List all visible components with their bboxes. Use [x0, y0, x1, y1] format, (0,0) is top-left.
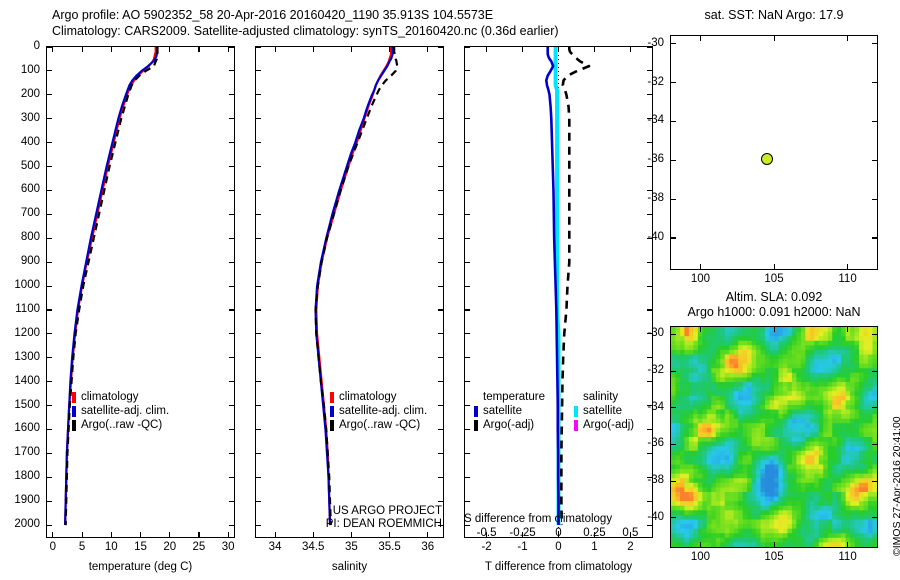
temperature-xtick [52, 532, 53, 537]
salinity-xtick-label: 35.5 [378, 541, 400, 553]
depth-tick-label: 1300 [14, 351, 40, 363]
depth-tick-label: 400 [21, 136, 40, 148]
argo-profile-figure: Argo profile: AO 5902352_58 20-Apr-2016 … [0, 0, 900, 580]
depth-tick [229, 190, 234, 191]
depth-tick [438, 357, 443, 358]
sdiff-xtick-label: 0.25 [583, 527, 605, 539]
depth-tick [47, 477, 52, 478]
map-ytick [671, 517, 676, 518]
depth-tick-label: 500 [21, 160, 40, 172]
map-ytick [671, 334, 676, 335]
sla-title-line1: Altim. SLA: 0.092 [668, 290, 880, 304]
map-ytick-label: -34 [647, 114, 664, 126]
tdiff-xtick-label: -1 [517, 541, 527, 553]
temperature-xtick [198, 532, 199, 537]
depth-tick [438, 214, 443, 215]
depth-tick-label: 1600 [14, 422, 40, 434]
depth-tick [47, 357, 52, 358]
depth-tick [47, 286, 52, 287]
map-xtick-label: 100 [691, 551, 710, 563]
depth-tick [229, 47, 234, 48]
map-xtick [700, 36, 701, 41]
argo-float-marker [761, 153, 773, 165]
depth-tick [256, 333, 261, 334]
map-xtick [847, 36, 848, 41]
legend-item: satellite [474, 404, 545, 418]
depth-tick [438, 142, 443, 143]
temperature-plot-area [46, 46, 235, 538]
argo-project-credit: US ARGO PROJECT PI: DEAN ROEMMICH [264, 505, 442, 531]
temperature-xtick [169, 532, 170, 537]
sdiff-xtick [486, 47, 487, 52]
temperature-legend: climatology satellite-adj. clim. Argo(..… [72, 390, 169, 432]
map-ytick [872, 444, 877, 445]
depth-tick [438, 238, 443, 239]
salinity-xtick [389, 47, 390, 52]
depth-tick [47, 381, 52, 382]
map-ytick [671, 160, 676, 161]
legend-label: satellite-adj. clim. [81, 404, 169, 418]
map-xtick [774, 36, 775, 41]
header-line1: Argo profile: AO 5902352_58 20-Apr-2016 … [52, 8, 493, 22]
depth-tick [465, 429, 470, 430]
depth-tick [465, 453, 470, 454]
temperature-xtick [169, 47, 170, 52]
tdiff-xtick-label: 2 [627, 541, 633, 553]
map-ytick-label: -30 [647, 327, 664, 339]
map-xtick-label: 110 [838, 551, 856, 563]
depth-tick [465, 70, 470, 71]
sdiff-xtick-label: -0.25 [509, 527, 535, 539]
depth-tick [465, 405, 470, 406]
map-ytick [671, 237, 676, 238]
depth-tick [438, 70, 443, 71]
depth-tick [47, 238, 52, 239]
difference-legend-salinity: salinity satellite Argo(-adj) [574, 390, 634, 432]
sdiff-xtick [522, 47, 523, 52]
depth-tick [229, 70, 234, 71]
depth-tick [465, 357, 470, 358]
legend-label: Argo(..raw -QC) [339, 418, 420, 432]
map-xtick [774, 327, 775, 332]
map-ytick [671, 444, 676, 445]
depth-tick [438, 381, 443, 382]
depth-tick [465, 477, 470, 478]
salinity-xtick [275, 47, 276, 52]
depth-tick [47, 214, 52, 215]
salinity-xtick [389, 532, 390, 537]
depth-tick [229, 453, 234, 454]
depth-tick [438, 405, 443, 406]
depth-tick [256, 501, 261, 502]
salinity-xtick [313, 47, 314, 52]
legend-item: satellite [574, 404, 634, 418]
map-xtick [847, 542, 848, 547]
map-ytick [872, 199, 877, 200]
temperature-xtick-label: 30 [222, 541, 235, 553]
depth-tick-label: 700 [21, 207, 40, 219]
credit-line2: PI: DEAN ROEMMICH [264, 518, 442, 531]
temperature-xtick-label: 0 [50, 541, 56, 553]
depth-tick-label: 1400 [14, 375, 40, 387]
depth-tick [256, 405, 261, 406]
legend-item: satellite-adj. clim. [72, 404, 169, 418]
temperature-xtick [140, 532, 141, 537]
legend-item: Argo(..raw -QC) [72, 418, 169, 432]
depth-tick [438, 525, 443, 526]
depth-tick [256, 214, 261, 215]
depth-tick [465, 94, 470, 95]
header-line2: Climatology: CARS2009. Satellite-adjuste… [52, 24, 559, 38]
depth-tick [229, 214, 234, 215]
depth-tick-label: 1900 [14, 494, 40, 506]
depth-tick [256, 118, 261, 119]
depth-tick [438, 333, 443, 334]
tdiff-xtick-label: -2 [481, 541, 491, 553]
depth-tick [647, 286, 652, 287]
map-ytick [872, 121, 877, 122]
depth-tick [465, 214, 470, 215]
depth-tick [647, 70, 652, 71]
legend-label: climatology [339, 390, 397, 404]
depth-tick [256, 94, 261, 95]
depth-tick [229, 381, 234, 382]
legend-header-temperature: temperature [474, 390, 545, 404]
depth-tick [647, 262, 652, 263]
depth-tick [229, 477, 234, 478]
depth-tick [647, 501, 652, 502]
depth-tick [256, 309, 261, 310]
depth-tick [47, 262, 52, 263]
depth-tick [229, 142, 234, 143]
legend-item: climatology [330, 390, 427, 404]
map-ytick-label: -30 [647, 37, 664, 49]
legend-item: climatology [72, 390, 169, 404]
credit-line1: US ARGO PROJECT [264, 505, 442, 518]
salinity-xtick-label: 34.5 [302, 541, 324, 553]
legend-swatch-climatology [330, 392, 334, 403]
depth-tick [465, 166, 470, 167]
map-xtick [774, 264, 775, 269]
legend-label: Argo(-adj) [483, 418, 534, 432]
depth-tick [647, 142, 652, 143]
depth-tick [647, 357, 652, 358]
depth-tick [647, 525, 652, 526]
depth-tick [229, 262, 234, 263]
legend-item: satellite-adj. clim. [330, 404, 427, 418]
legend-label: Argo(-adj) [583, 418, 634, 432]
depth-tick [229, 238, 234, 239]
depth-tick [647, 453, 652, 454]
depth-tick [47, 429, 52, 430]
depth-tick [465, 525, 470, 526]
depth-tick-label: 1200 [14, 327, 40, 339]
salinity-xtick [275, 532, 276, 537]
temperature-xtick-label: 20 [163, 541, 176, 553]
map-ytick-label: -32 [647, 364, 664, 376]
legend-label: satellite [483, 404, 522, 418]
depth-tick [256, 381, 261, 382]
map-ytick-label: -38 [647, 192, 664, 204]
depth-tick [647, 309, 652, 310]
map-xtick [774, 542, 775, 547]
salinity-xtick [427, 47, 428, 52]
depth-tick-label: 1700 [14, 446, 40, 458]
depth-tick [229, 501, 234, 502]
depth-tick [256, 477, 261, 478]
depth-tick [438, 94, 443, 95]
temperature-xtick [111, 532, 112, 537]
legend-label: satellite-adj. clim. [339, 404, 427, 418]
depth-tick [256, 238, 261, 239]
depth-tick [256, 262, 261, 263]
depth-tick-label: 1100 [15, 303, 40, 315]
depth-tick [647, 166, 652, 167]
depth-tick [47, 142, 52, 143]
map-ytick-label: -38 [647, 474, 664, 486]
map-xtick [847, 327, 848, 332]
legend-item: Argo(..raw -QC) [330, 418, 427, 432]
depth-tick [47, 190, 52, 191]
depth-tick [229, 286, 234, 287]
map-ytick-label: -36 [647, 153, 664, 165]
salinity-xtick [351, 47, 352, 52]
legend-item: Argo(-adj) [474, 418, 545, 432]
depth-tick [256, 166, 261, 167]
temperature-xaxis-label: temperature (deg C) [46, 561, 235, 573]
depth-tick [47, 525, 52, 526]
temperature-xtick-label: 10 [105, 541, 118, 553]
depth-tick [256, 142, 261, 143]
depth-tick [256, 525, 261, 526]
temperature-xtick-label: 25 [193, 541, 206, 553]
depth-tick-label: 300 [21, 112, 40, 124]
depth-tick [465, 262, 470, 263]
depth-tick [438, 429, 443, 430]
salinity-xtick-label: 35 [345, 541, 358, 553]
map-xtick-label: 105 [764, 551, 783, 563]
salinity-xtick [313, 532, 314, 537]
difference-top-axis-label: S difference from climatology [464, 513, 653, 525]
depth-tick [256, 47, 261, 48]
depth-tick-label: 0 [34, 40, 40, 52]
map-xtick [700, 264, 701, 269]
sst-map-area [670, 35, 878, 270]
map-ytick [671, 407, 676, 408]
depth-tick [229, 309, 234, 310]
depth-tick [465, 333, 470, 334]
map-ytick-label: -34 [647, 401, 664, 413]
depth-tick [229, 118, 234, 119]
legend-swatch-satellite-adj [330, 406, 334, 417]
depth-tick [465, 309, 470, 310]
depth-tick [438, 190, 443, 191]
legend-swatch-argo-raw [72, 420, 76, 431]
sla-title-line2: Argo h1000: 0.091 h2000: NaN [660, 305, 888, 319]
depth-tick-label: 900 [21, 255, 40, 267]
depth-tick [438, 47, 443, 48]
map-ytick [872, 43, 877, 44]
map-xtick-label: 100 [691, 273, 710, 285]
depth-tick [229, 357, 234, 358]
temperature-xtick [228, 532, 229, 537]
depth-tick [465, 47, 470, 48]
depth-tick [47, 70, 52, 71]
salinity-legend: climatology satellite-adj. clim. Argo(..… [330, 390, 427, 432]
legend-swatch-temperature-argo [474, 420, 478, 431]
legend-item: Argo(-adj) [574, 418, 634, 432]
salinity-curves [256, 47, 443, 537]
depth-tick [647, 94, 652, 95]
depth-tick [647, 381, 652, 382]
depth-tick [647, 190, 652, 191]
legend-swatch-temperature-satellite [474, 406, 478, 417]
legend-swatch-argo-raw [330, 420, 334, 431]
legend-swatch-salinity-argo [574, 420, 578, 431]
sdiff-xtick [630, 47, 631, 52]
depth-tick [229, 94, 234, 95]
depth-tick [47, 333, 52, 334]
depth-tick [438, 166, 443, 167]
copyright-text: ©IMOS 27-Apr-2016 20:41:00 [891, 416, 900, 556]
sdiff-xtick-label: -0.5 [477, 527, 497, 539]
depth-tick [465, 501, 470, 502]
map-ytick-label: -40 [647, 511, 664, 523]
depth-tick-label: 800 [21, 231, 40, 243]
depth-tick [438, 477, 443, 478]
temperature-xtick-label: 5 [79, 541, 85, 553]
depth-tick [256, 429, 261, 430]
depth-tick [438, 501, 443, 502]
depth-tick [465, 190, 470, 191]
sdiff-xtick-label: 0 [555, 527, 561, 539]
temperature-curves [47, 47, 234, 537]
depth-tick [229, 166, 234, 167]
depth-tick [465, 118, 470, 119]
sla-map-area [670, 326, 878, 548]
map-ytick [671, 43, 676, 44]
depth-tick [229, 429, 234, 430]
depth-tick [256, 357, 261, 358]
temperature-xtick [198, 47, 199, 52]
difference-bottom-axis-label: T difference from climatology [464, 561, 653, 573]
temperature-xtick [52, 47, 53, 52]
depth-tick [229, 525, 234, 526]
map-xtick-label: 110 [838, 273, 856, 285]
depth-tick [47, 501, 52, 502]
depth-tick [438, 118, 443, 119]
map-ytick [671, 82, 676, 83]
depth-tick [47, 309, 52, 310]
map-xtick [700, 542, 701, 547]
salinity-xtick [351, 532, 352, 537]
legend-label: Argo(..raw -QC) [81, 418, 162, 432]
map-ytick [872, 517, 877, 518]
map-ytick [872, 481, 877, 482]
depth-tick [47, 166, 52, 167]
legend-swatch-climatology [72, 392, 76, 403]
depth-tick-label: 1000 [14, 279, 40, 291]
map-ytick [872, 237, 877, 238]
map-ytick [872, 82, 877, 83]
salinity-xtick-label: 36 [421, 541, 434, 553]
map-ytick [872, 160, 877, 161]
depth-tick [47, 94, 52, 95]
map-ytick [671, 199, 676, 200]
map-xtick-label: 105 [764, 273, 783, 285]
depth-tick-label: 200 [21, 88, 40, 100]
map-ytick [671, 481, 676, 482]
sdiff-xtick [558, 47, 559, 52]
depth-tick [256, 70, 261, 71]
depth-tick [47, 118, 52, 119]
depth-tick [438, 262, 443, 263]
map-ytick [872, 407, 877, 408]
salinity-xaxis-label: salinity [255, 561, 444, 573]
map-ytick-label: -36 [647, 437, 664, 449]
map-ytick [671, 121, 676, 122]
depth-tick [47, 405, 52, 406]
map-ytick-label: -40 [647, 231, 664, 243]
difference-plot-area [464, 46, 653, 538]
depth-tick [647, 214, 652, 215]
depth-tick-label: 1800 [14, 470, 40, 482]
map-ytick [872, 334, 877, 335]
sdiff-xtick-label: 0.5 [622, 527, 638, 539]
depth-tick-label: 1500 [14, 399, 40, 411]
depth-tick [47, 453, 52, 454]
depth-tick [256, 453, 261, 454]
depth-tick [465, 381, 470, 382]
sla-heatmap [671, 327, 877, 547]
temperature-xtick-label: 15 [134, 541, 147, 553]
salinity-xtick-label: 34 [269, 541, 282, 553]
depth-tick [438, 453, 443, 454]
legend-label: satellite [583, 404, 622, 418]
depth-tick [465, 286, 470, 287]
depth-tick [465, 238, 470, 239]
salinity-xtick [427, 532, 428, 537]
legend-swatch-salinity-satellite [574, 406, 578, 417]
depth-tick-label: 2000 [14, 518, 40, 530]
salinity-plot-area [255, 46, 444, 538]
tdiff-xtick-label: 1 [591, 541, 597, 553]
temperature-xtick [111, 47, 112, 52]
temperature-xtick [82, 532, 83, 537]
map-ytick [872, 371, 877, 372]
map-ytick [671, 371, 676, 372]
legend-label: climatology [81, 390, 139, 404]
temperature-xtick [140, 47, 141, 52]
depth-tick [438, 286, 443, 287]
depth-tick [438, 309, 443, 310]
map-ytick-label: -32 [647, 76, 664, 88]
tdiff-xtick-label: 0 [555, 541, 561, 553]
map-xtick [700, 327, 701, 332]
depth-tick [465, 142, 470, 143]
depth-tick [256, 286, 261, 287]
depth-tick-label: 600 [21, 183, 40, 195]
depth-tick [256, 190, 261, 191]
legend-swatch-satellite-adj [72, 406, 76, 417]
map-xtick [847, 264, 848, 269]
sst-map-title: sat. SST: NaN Argo: 17.9 [668, 8, 880, 22]
temperature-xtick [82, 47, 83, 52]
temperature-xtick [228, 47, 229, 52]
sdiff-xtick [594, 47, 595, 52]
difference-legend-temperature: temperature satellite Argo(-adj) [474, 390, 545, 432]
depth-tick [229, 405, 234, 406]
